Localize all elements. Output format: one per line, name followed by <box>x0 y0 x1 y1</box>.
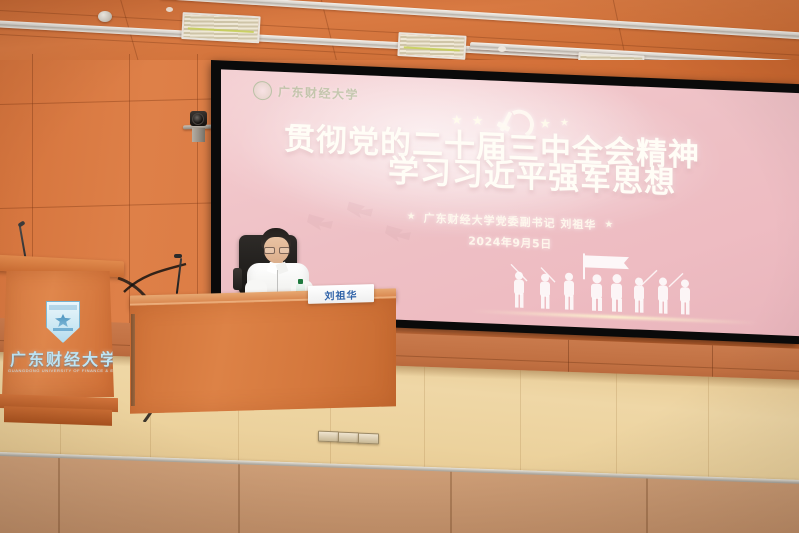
speaker-glasses <box>264 247 289 252</box>
star-icon: ★ <box>472 113 484 126</box>
ceiling-speaker <box>98 11 112 22</box>
floor-outlet <box>318 431 339 443</box>
nameplate-text: 刘祖华 <box>325 286 358 302</box>
podium-foot <box>4 406 112 426</box>
auditorium-scene: 广东财经大学 ★ ★ ★ ★ 贯彻党的二十届三中全会精神 学习习近平强军思想 <box>0 0 799 533</box>
table-leg <box>131 314 135 406</box>
chair-arm <box>233 268 242 290</box>
ceiling-vent <box>181 12 260 43</box>
star-icon: ★ <box>560 118 569 128</box>
podium-body: 广东财经大学 GUANGDONG UNIVERSITY OF FINANCE &… <box>2 271 114 397</box>
podium-org-name-en: GUANGDONG UNIVERSITY OF FINANCE & ECONOM… <box>8 368 120 373</box>
ceiling-vent <box>397 32 466 60</box>
table-front-panel <box>130 298 396 413</box>
star-icon: ★ <box>451 112 463 125</box>
podium: 广东财经大学 GUANGDONG UNIVERSITY OF FINANCE &… <box>0 258 124 430</box>
university-shield-icon <box>46 301 80 343</box>
ceiling-speaker <box>166 7 173 12</box>
floor-outlet <box>358 433 379 445</box>
star-icon: ★ <box>539 116 551 129</box>
table-microphone-head <box>174 254 182 258</box>
podium-org-name-cn: 广东财经大学 <box>8 346 120 370</box>
ceiling-speaker <box>498 46 506 52</box>
floor-outlet <box>338 432 359 444</box>
nameplate: 刘祖华 <box>308 284 374 304</box>
jet-silhouettes <box>291 183 461 260</box>
star-icon: ★ <box>604 220 613 230</box>
speaker-table <box>130 292 396 414</box>
soldier-silhouettes <box>493 250 698 318</box>
